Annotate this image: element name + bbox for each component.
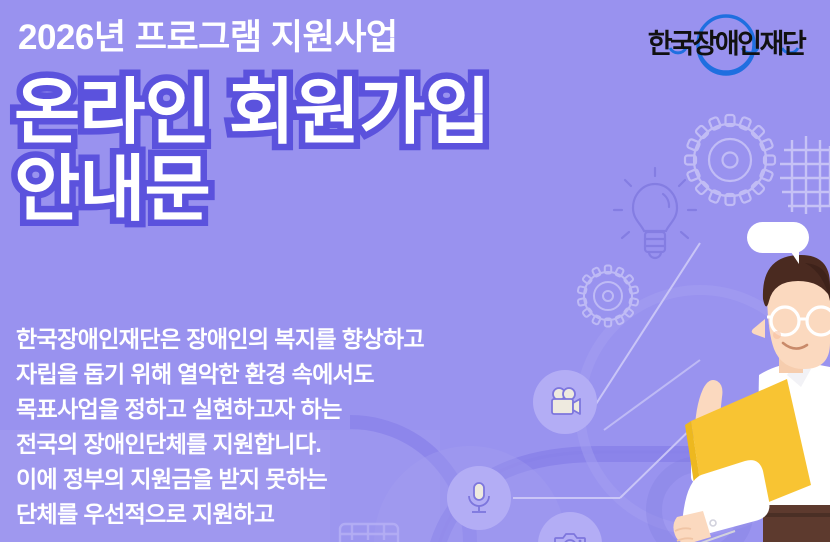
poster-kicker: 2026년 프로그램 지원사업 — [18, 20, 398, 55]
poster-root: 한국장애인재단 2026년 프로그램 지원사업 온라인 회원가입 안내문 한국장… — [0, 0, 830, 542]
headline-line-2: 안내문 — [14, 155, 490, 226]
microphone-bubble[interactable] — [447, 466, 511, 530]
person-illustration — [655, 255, 830, 542]
body-line-6: 단체를 우선적으로 지원하고 — [16, 497, 424, 532]
body-line-2: 자립을 돕기 위해 열악한 환경 속에서도 — [16, 357, 424, 392]
speech-bubble-icon — [747, 222, 817, 264]
logo-wordmark: 한국장애인재단 — [636, 31, 816, 58]
body-line-4: 전국의 장애인단체를 지원합니다. — [16, 427, 424, 462]
microphone-icon — [466, 481, 492, 515]
body-line-5: 이에 정부의 지원금을 받지 못하는 — [16, 462, 424, 497]
body-line-3: 목표사업을 정하고 실현하고자 하는 — [16, 392, 424, 427]
poster-body-copy: 한국장애인재단은 장애인의 복지를 향상하고 자립을 돕기 위해 열악한 환경 … — [16, 322, 424, 532]
video-camera-icon — [548, 387, 582, 417]
poster-headline: 온라인 회원가입 안내문 — [14, 78, 490, 231]
body-line-1: 한국장애인재단은 장애인의 복지를 향상하고 — [16, 322, 424, 357]
video-camera-bubble[interactable] — [533, 370, 597, 434]
headline-line-1: 온라인 회원가입 — [14, 78, 490, 149]
organization-logo: 한국장애인재단 — [636, 12, 816, 76]
photo-camera-icon — [554, 531, 586, 542]
